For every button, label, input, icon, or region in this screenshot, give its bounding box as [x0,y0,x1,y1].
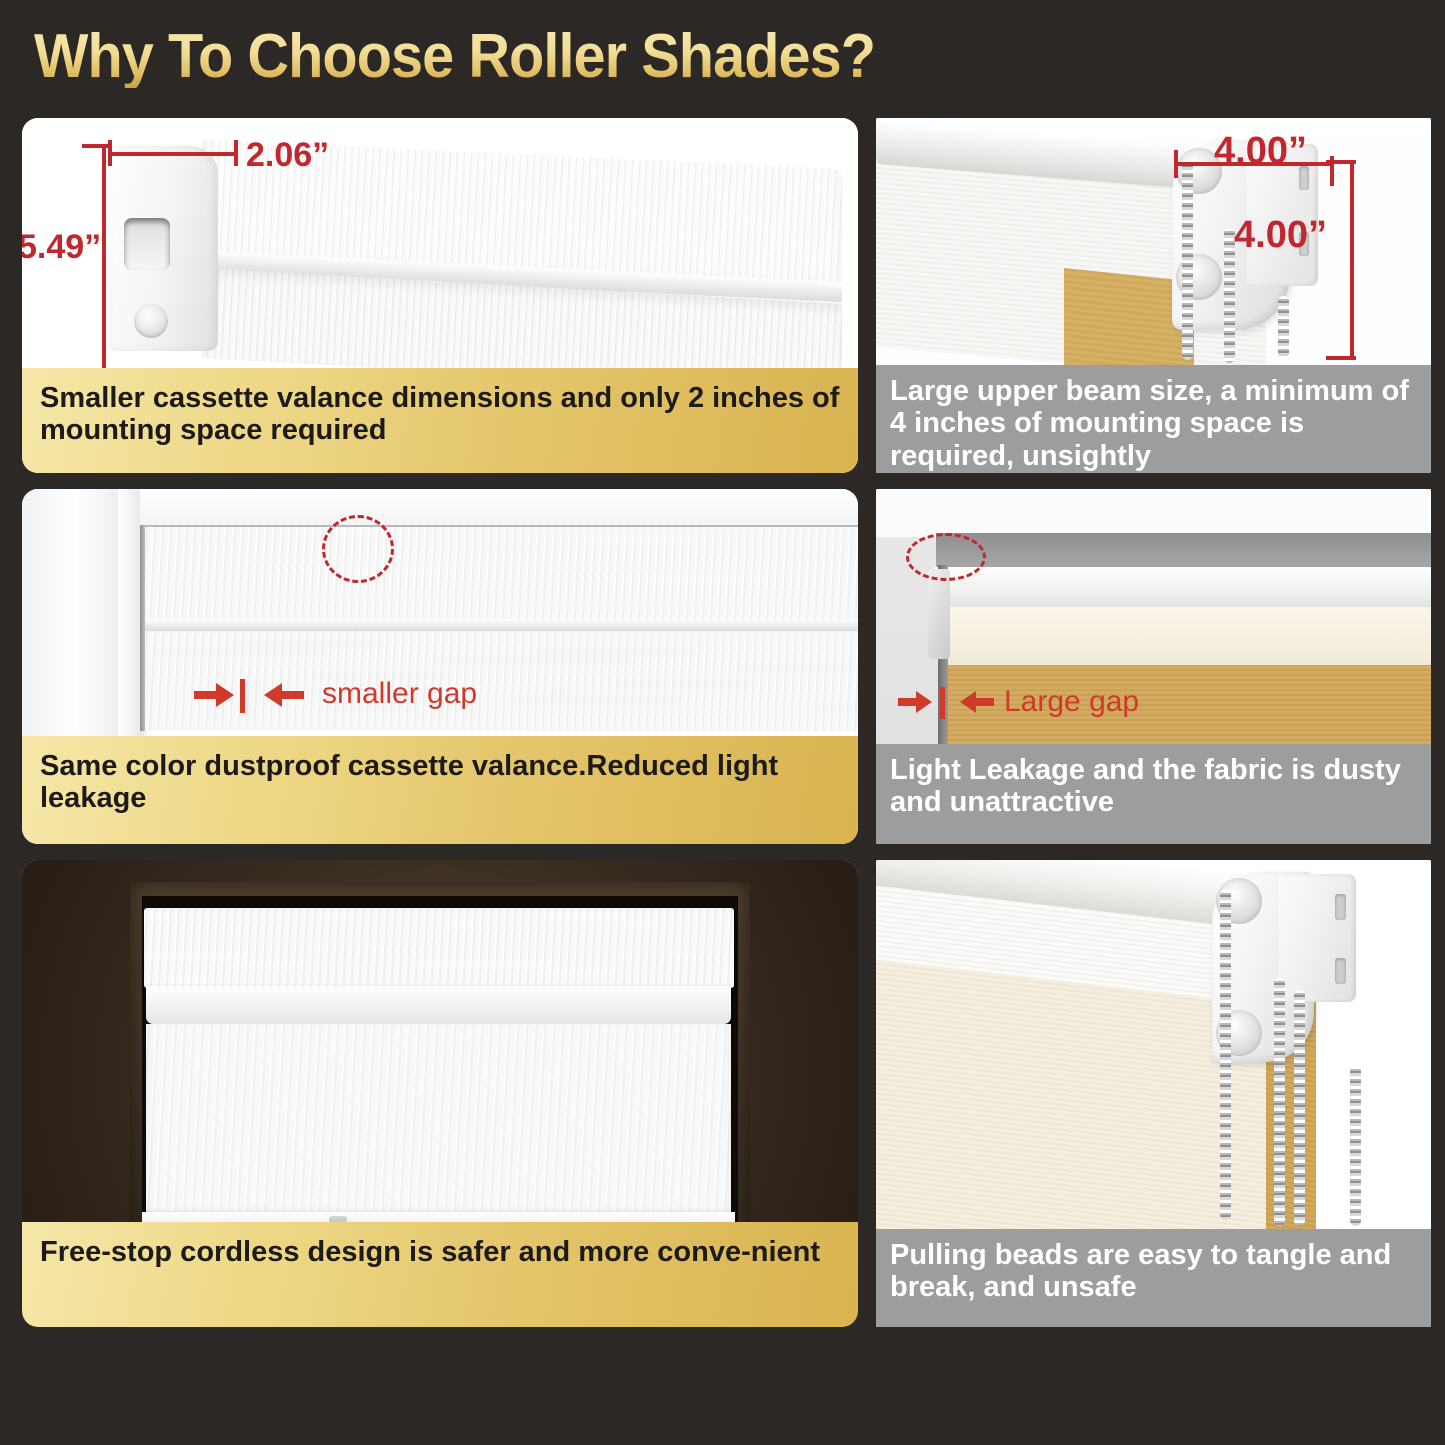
panel-1-caption: Smaller cassette valance dimensions and … [22,368,858,473]
comparison-grid: 2.06” 5.49” Smaller cassette valance dim… [0,0,1445,1445]
bead-chain-4 [1350,1066,1361,1226]
height-dimension-label: 5.49” [22,228,101,267]
height-dimension-tick-top [1326,160,1356,164]
bead-chain-1 [1182,160,1193,360]
width-dimension-label: 4.00” [1214,130,1307,173]
panel-cordless-design: Free-stop cordless design is safer and m… [22,860,858,1327]
panel-large-beam: 4.00” 4.00” Large upper beam size, a min… [876,118,1431,473]
panel-pulling-beads: Pulling beads are easy to tangle and bre… [876,860,1431,1327]
width-dimension-tick-left [1174,150,1178,178]
height-dimension-tick-bottom [1326,356,1356,360]
panel-dustproof-valance: smaller gap Same color dustproof cassett… [22,489,858,844]
height-dimension-line [102,146,106,384]
panel-2-caption: Large upper beam size, a minimum of 4 in… [876,365,1431,473]
gap-arrow-icons [194,679,324,719]
width-dimension-line [110,152,238,156]
panel-smaller-cassette: 2.06” 5.49” Smaller cassette valance dim… [22,118,858,473]
gap-callout-label: Large gap [1004,685,1139,719]
highlight-circle-icon [322,515,394,583]
gap-arrow-icons [898,687,1008,725]
bead-chain-2 [1274,978,1285,1226]
panel-5-caption: Free-stop cordless design is safer and m… [22,1222,858,1327]
highlight-circle-icon [906,533,986,581]
panel-6-caption: Pulling beads are easy to tangle and bre… [876,1229,1431,1327]
panel-3-caption: Same color dustproof cassette valance.Re… [22,736,858,844]
gap-callout-label: smaller gap [322,677,477,711]
height-dimension-line [1350,160,1354,360]
width-dimension-label: 2.06” [246,136,329,175]
bead-chain-3 [1278,296,1289,358]
panel-4-caption: Light Leakage and the fabric is dusty an… [876,744,1431,844]
width-dimension-tick-right [234,140,238,166]
height-dimension-label: 4.00” [1234,214,1327,257]
height-dimension-tick-top [82,144,112,148]
panel-light-leakage: Large gap Light Leakage and the fabric i… [876,489,1431,844]
bead-chain-3 [1294,990,1305,1226]
bead-chain-1 [1220,890,1231,1220]
